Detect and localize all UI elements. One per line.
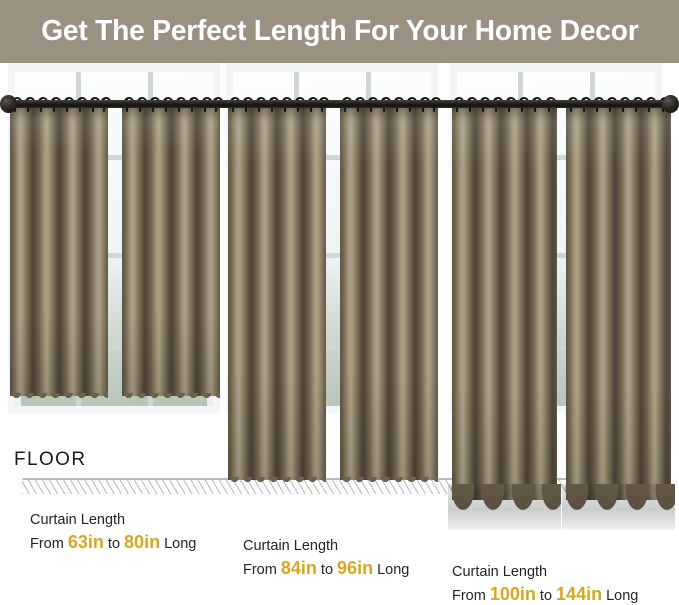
caption-suffix: Long	[373, 562, 409, 578]
curtain-hem-puddle	[562, 484, 675, 530]
curtain-hem-puddle	[448, 484, 561, 530]
curtain-fabric	[122, 108, 220, 396]
caption-line1: Curtain Length	[243, 535, 409, 557]
curtain-fabric	[228, 108, 326, 480]
curtain-fabric	[452, 108, 557, 500]
caption-prefix: From	[30, 536, 68, 552]
caption-to-value: 96in	[337, 558, 373, 578]
curtain-hem	[122, 393, 220, 401]
caption-prefix: From	[452, 588, 490, 604]
curtain-panel-short-right	[122, 108, 220, 396]
floor-label: FLOOR	[14, 449, 86, 471]
header-banner: Get The Perfect Length For Your Home Dec…	[0, 0, 679, 63]
rod-finial-right	[662, 95, 679, 113]
caption-from-value: 84in	[281, 558, 317, 578]
curtain-fabric	[340, 108, 438, 480]
caption-prefix: From	[243, 562, 281, 578]
curtain-panel-short-left	[10, 108, 108, 396]
caption-line2: From 100in to 144in Long	[452, 583, 638, 605]
caption-suffix: Long	[160, 536, 196, 552]
curtain-fabric	[566, 108, 671, 500]
caption-line1: Curtain Length	[30, 509, 196, 531]
caption-mid: to	[104, 536, 124, 552]
curtain-hem	[228, 477, 326, 485]
caption-line1: Curtain Length	[452, 561, 638, 583]
curtain-panel-long-right	[566, 108, 671, 500]
caption-line2: From 63in to 80in Long	[30, 531, 196, 555]
curtain-panel-medium-right	[340, 108, 438, 480]
rod-finial-left	[0, 95, 17, 113]
caption-short: Curtain Length From 63in to 80in Long	[30, 509, 196, 555]
page-title: Get The Perfect Length For Your Home Dec…	[41, 15, 638, 48]
curtain-rod	[8, 100, 671, 108]
caption-mid: to	[317, 562, 337, 578]
product-infographic: Get The Perfect Length For Your Home Dec…	[0, 0, 679, 605]
caption-from-value: 100in	[490, 584, 536, 604]
caption-to-value: 144in	[556, 584, 602, 604]
caption-to-value: 80in	[124, 532, 160, 552]
curtain-fabric	[10, 108, 108, 396]
curtain-scene: FLOOR Curtain Length From 63in to 80in L…	[0, 63, 679, 605]
curtain-panel-long-left	[452, 108, 557, 500]
caption-medium: Curtain Length From 84in to 96in Long	[243, 535, 409, 581]
curtain-hem	[10, 393, 108, 401]
caption-line2: From 84in to 96in Long	[243, 557, 409, 581]
curtain-hem	[340, 477, 438, 485]
caption-suffix: Long	[602, 588, 638, 604]
caption-from-value: 63in	[68, 532, 104, 552]
caption-long: Curtain Length From 100in to 144in Long	[452, 561, 638, 605]
caption-mid: to	[536, 588, 556, 604]
curtain-panel-medium-left	[228, 108, 326, 480]
